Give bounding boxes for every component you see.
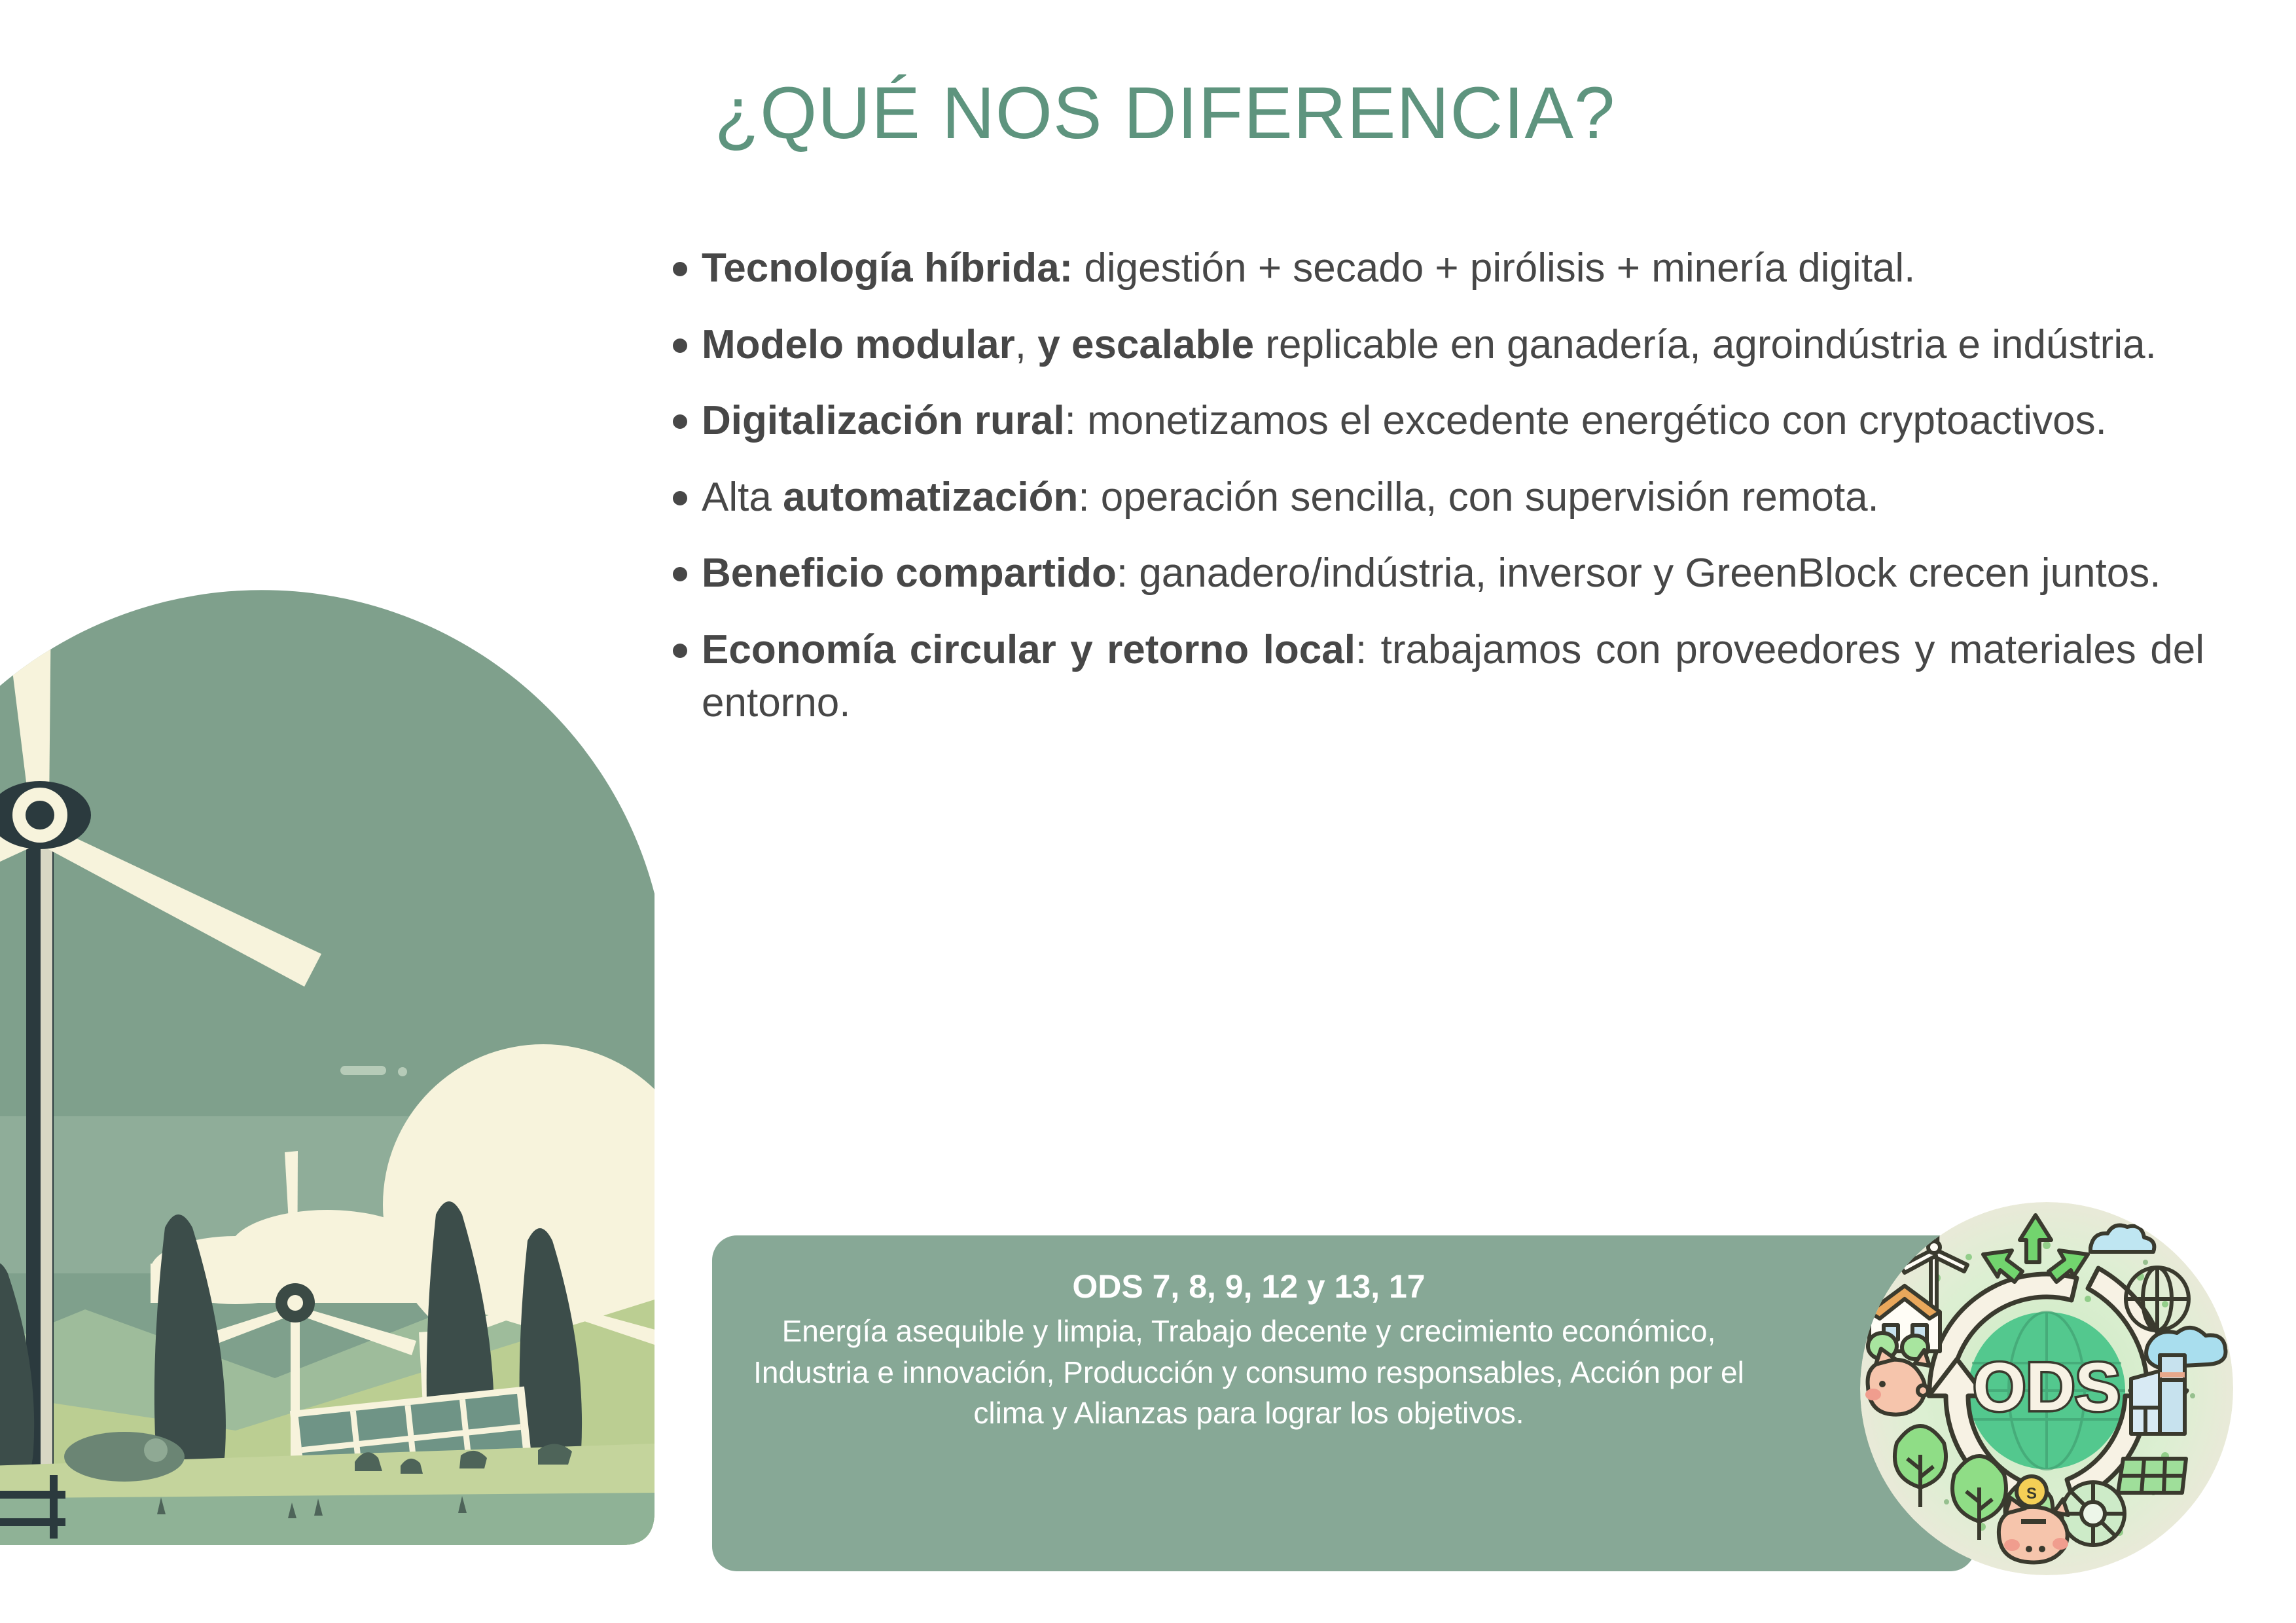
list-item-bold: Tecnología híbrida: <box>702 246 1073 291</box>
shrub <box>64 1432 185 1482</box>
illustration-svg <box>0 488 655 1545</box>
list-item: Economía circular y retorno local: traba… <box>673 624 2204 729</box>
bullet-dot-icon <box>673 262 687 276</box>
list-item-bold-2: y escalable <box>1037 322 1254 367</box>
ods-callout-box: ODS 7, 8, 9, 12 y 13, 17 Energía asequib… <box>712 1235 1975 1571</box>
list-item-text: Modelo modular, y escalable replicable e… <box>702 319 2204 372</box>
list-item-bold: Digitalización rural <box>702 398 1065 443</box>
list-item: Beneficio compartido: ganadero/indústria… <box>673 547 2204 600</box>
globe-target-icon <box>2126 1267 2189 1330</box>
cloud-mark <box>340 1066 386 1075</box>
page-title: ¿QUÉ NOS DIFERENCIA? <box>655 71 1676 155</box>
bullet-dot-icon <box>673 644 687 658</box>
bullet-dot-icon <box>673 414 687 429</box>
solar-panel-icon <box>2118 1459 2186 1493</box>
shrub-highlight <box>144 1438 168 1462</box>
globe-grid-icon <box>2062 1482 2125 1545</box>
list-item-mid: , <box>1015 322 1037 367</box>
list-item: Modelo modular, y escalable replicable e… <box>673 319 2204 372</box>
list-item-rest: : operación sencilla, con supervisión re… <box>1078 475 1878 520</box>
ods-description: Energía asequible y limpia, Trabajo dece… <box>712 1311 1785 1434</box>
ods-callout-content: ODS 7, 8, 9, 12 y 13, 17 Energía asequib… <box>712 1235 1785 1434</box>
ods-badge-label: ODS <box>1973 1349 2120 1425</box>
coin-icon: S <box>2017 1476 2047 1506</box>
bullet-dot-icon <box>673 491 687 505</box>
ods-badge-svg: ODS <box>1857 1199 2236 1578</box>
list-item-bold: Beneficio compartido <box>702 551 1117 596</box>
list-item-rest: : ganadero/indústria, inversor y GreenBl… <box>1117 551 2161 596</box>
list-item-bold: Economía circular y retorno local <box>702 627 1355 672</box>
list-item-rest: : monetizamos el excedente energético co… <box>1065 398 2107 443</box>
differentiators-list: Tecnología híbrida: digestión + secado +… <box>673 242 2204 753</box>
list-item-rest: replicable en ganadería, agroindústria e… <box>1254 322 2157 367</box>
list-item: Alta automatización: operación sencilla,… <box>673 471 2204 524</box>
ground-dark <box>0 1493 655 1545</box>
coin-label: S <box>2026 1485 2037 1503</box>
ods-badge: ODS <box>1857 1199 2236 1578</box>
list-item-bold: Modelo modular <box>702 322 1015 367</box>
list-item-text: Tecnología híbrida: digestión + secado +… <box>702 242 2204 295</box>
list-item-text: Digitalización rural: monetizamos el exc… <box>702 395 2204 448</box>
cloud-dot <box>398 1067 407 1076</box>
list-item-text: Beneficio compartido: ganadero/indústria… <box>702 547 2204 600</box>
list-item: Digitalización rural: monetizamos el exc… <box>673 395 2204 448</box>
list-item: Tecnología híbrida: digestión + secado +… <box>673 242 2204 295</box>
list-item-text: Alta automatización: operación sencilla,… <box>702 471 2204 524</box>
bullet-dot-icon <box>673 567 687 581</box>
list-item-pre: Alta <box>702 475 783 520</box>
bullet-dot-icon <box>673 338 687 353</box>
list-item-text: Economía circular y retorno local: traba… <box>702 624 2204 729</box>
ods-heading: ODS 7, 8, 9, 12 y 13, 17 <box>712 1267 1785 1307</box>
list-item-rest: digestión + secado + pirólisis + minería… <box>1073 246 1915 291</box>
renewable-energy-illustration <box>0 488 655 1545</box>
list-item-bold: automatización <box>783 475 1078 520</box>
